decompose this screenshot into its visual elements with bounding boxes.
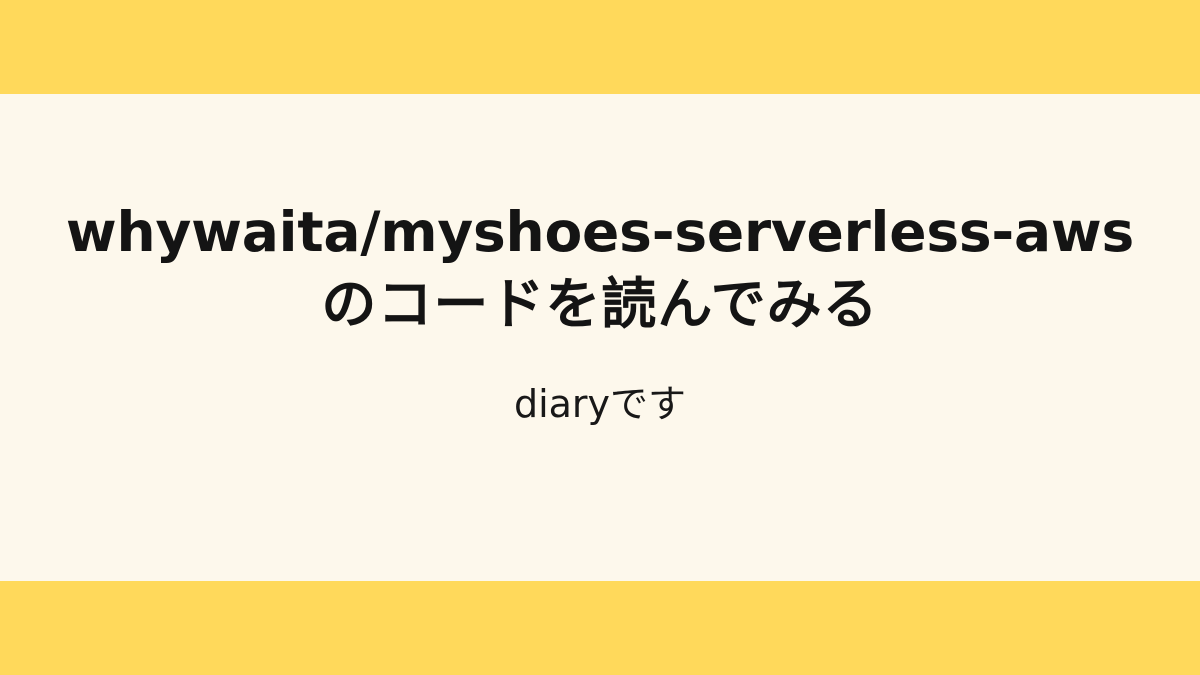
- card-content-area: whywaita/myshoes-serverless-aws のコードを読んで…: [0, 94, 1200, 581]
- ogp-card: whywaita/myshoes-serverless-aws のコードを読んで…: [0, 0, 1200, 675]
- page-title-line-1: whywaita/myshoes-serverless-aws: [40, 196, 1160, 268]
- page-title-line-2: のコードを読んでみる: [40, 268, 1160, 340]
- bottom-accent-band: [0, 581, 1200, 675]
- page-title: whywaita/myshoes-serverless-aws のコードを読んで…: [40, 196, 1160, 340]
- subtitle: diaryです: [40, 380, 1160, 428]
- subtitle-text: diaryです: [514, 380, 686, 428]
- top-accent-band: [0, 0, 1200, 94]
